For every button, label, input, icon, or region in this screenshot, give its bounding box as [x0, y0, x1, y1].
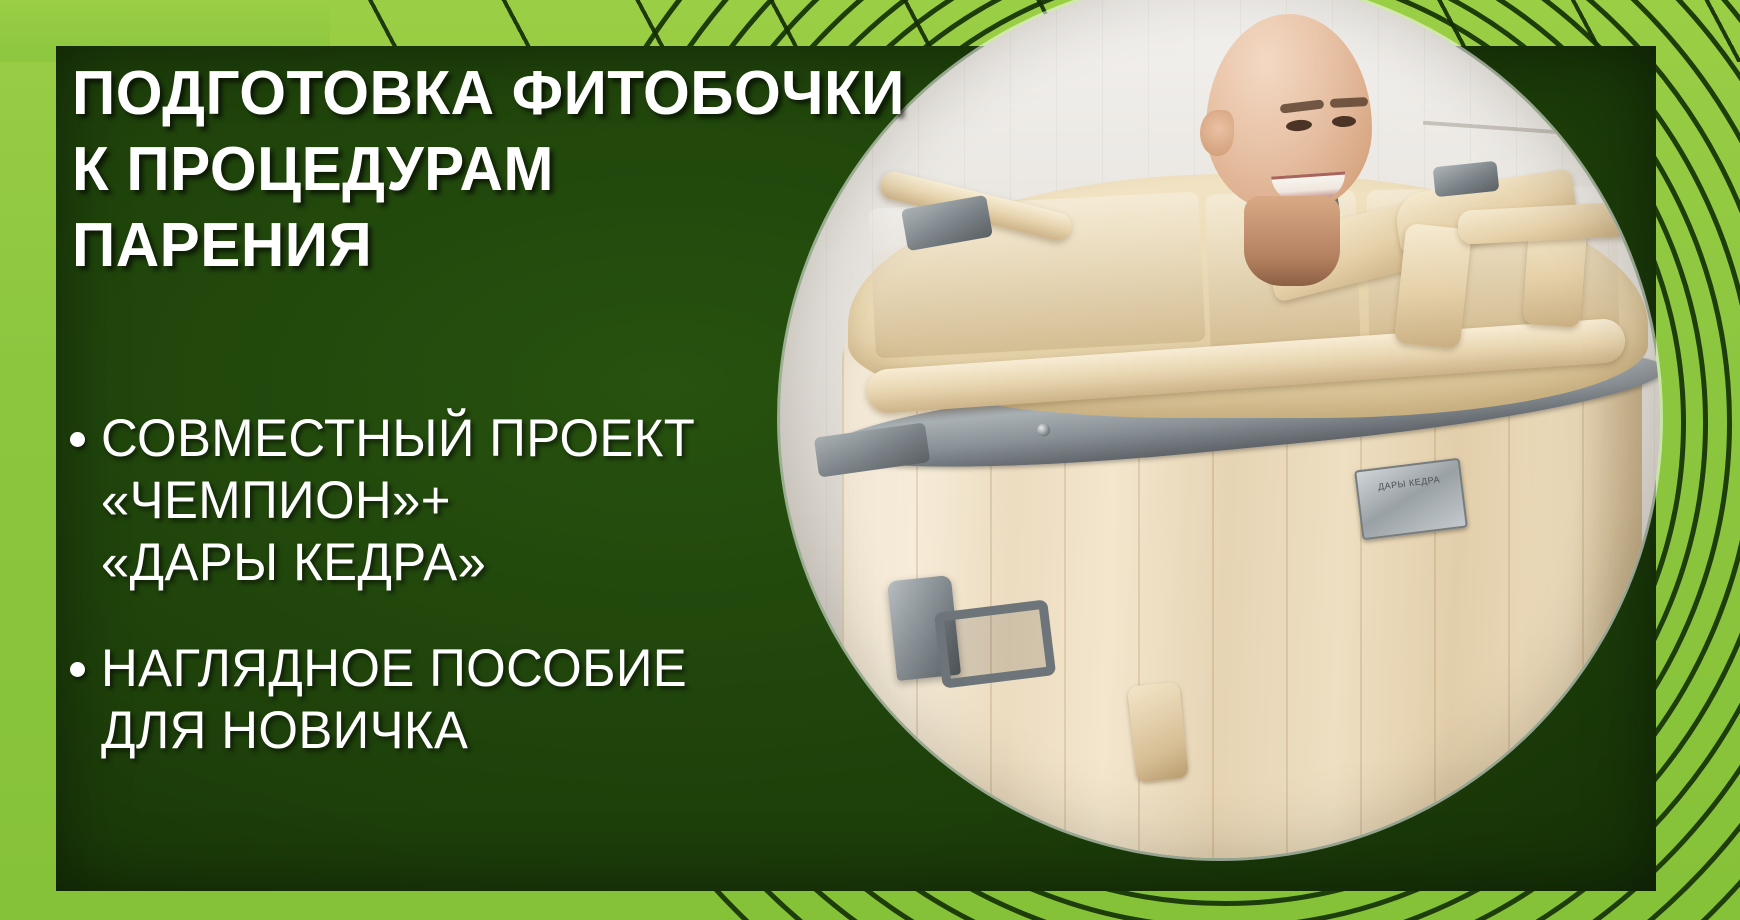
- bullet-dot-icon: [70, 432, 85, 447]
- title-block: ПОДГОТОВКА ФИТОБОЧКИ К ПРОЦЕДУРАМ ПАРЕНИ…: [72, 56, 912, 284]
- title-line-1: ПОДГОТОВКА ФИТОБОЧКИ: [72, 56, 887, 132]
- person-ear: [1200, 110, 1234, 156]
- video-thumbnail: ДАРЫ КЕДРА: [0, 0, 1740, 920]
- bullet-text: НАГЛЯДНОЕ ПОСОБИЕ ДЛЯ НОВИЧКА: [101, 638, 890, 762]
- barrel-wooden-knob: [1127, 682, 1189, 783]
- bullet-1-line-2: «ЧЕМПИОН»+: [101, 470, 858, 532]
- hoop-screw: [1036, 423, 1050, 437]
- bullet-item: СОВМЕСТНЫЙ ПРОЕКТ «ЧЕМПИОН»+ «ДАРЫ КЕДРА…: [70, 408, 890, 594]
- title-line-3: ПАРЕНИЯ: [72, 208, 887, 284]
- bullet-list: СОВМЕСТНЫЙ ПРОЕКТ «ЧЕМПИОН»+ «ДАРЫ КЕДРА…: [70, 408, 890, 806]
- lid-wooden-support: [1394, 223, 1472, 349]
- person-head: [1200, 14, 1376, 238]
- bullet-text: СОВМЕСТНЫЙ ПРОЕКТ «ЧЕМПИОН»+ «ДАРЫ КЕДРА…: [101, 408, 890, 594]
- photo-illustration: ДАРЫ КЕДРА: [780, 0, 1660, 858]
- bullet-dot-icon: [70, 662, 85, 677]
- bullet-2-line-1: НАГЛЯДНОЕ ПОСОБИЕ: [101, 638, 858, 700]
- bullet-1-line-3: «ДАРЫ КЕДРА»: [101, 532, 858, 594]
- person-neck: [1244, 196, 1340, 286]
- person-eyebrow: [1280, 99, 1325, 113]
- bullet-1-line-1: СОВМЕСТНЫЙ ПРОЕКТ: [101, 408, 858, 470]
- person-eyebrow: [1330, 97, 1368, 108]
- barrel-latch-arm: [934, 599, 1056, 688]
- bullet-item: НАГЛЯДНОЕ ПОСОБИЕ ДЛЯ НОВИЧКА: [70, 638, 890, 762]
- title-line-2: К ПРОЦЕДУРАМ: [72, 132, 887, 208]
- bullet-2-line-2: ДЛЯ НОВИЧКА: [101, 700, 858, 762]
- barrel-nameplate-text: ДАРЫ КЕДРА: [1364, 473, 1455, 495]
- barrel-nameplate: ДАРЫ КЕДРА: [1354, 458, 1468, 540]
- person-eye: [1286, 119, 1313, 132]
- photo-circle: ДАРЫ КЕДРА: [780, 0, 1660, 858]
- person-eye: [1332, 116, 1356, 128]
